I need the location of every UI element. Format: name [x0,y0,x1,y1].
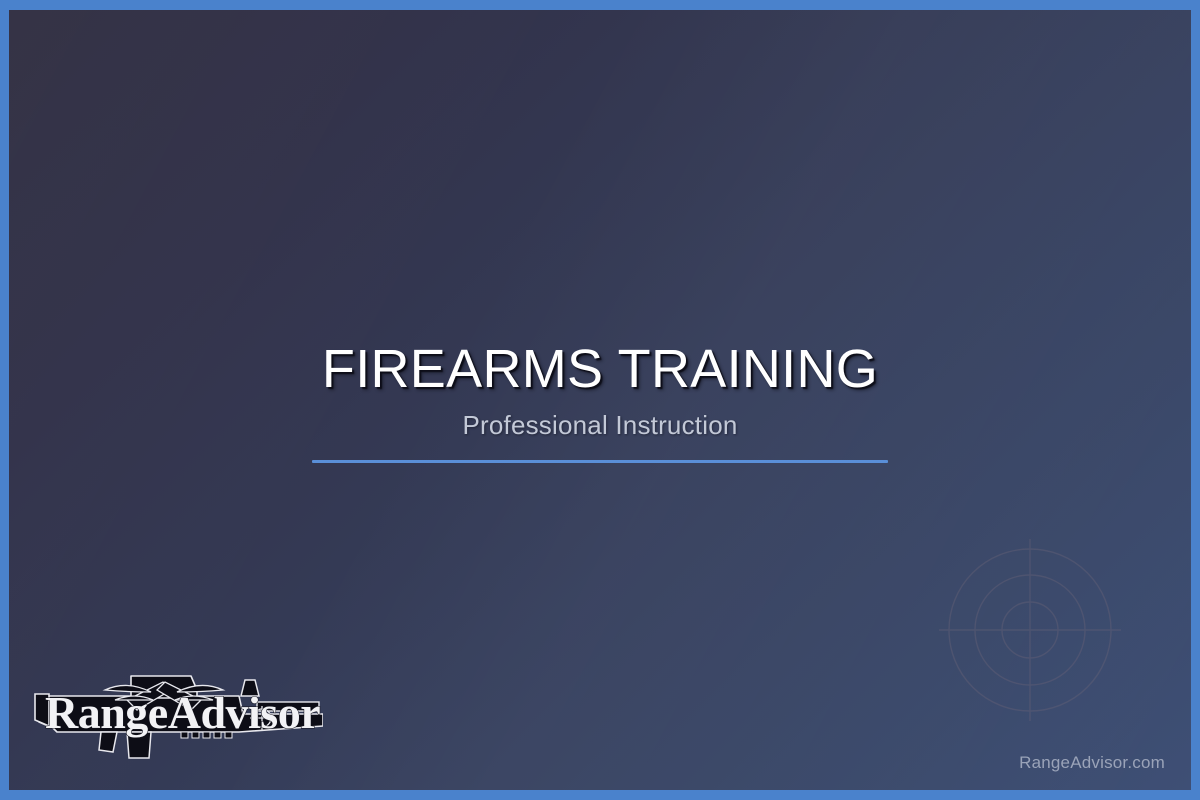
title-block: FIREARMS TRAINING Professional Instructi… [9,341,1191,463]
page-title: FIREARMS TRAINING [9,341,1191,397]
title-accent-divider [312,460,888,463]
title-slide: FIREARMS TRAINING Professional Instructi… [0,0,1200,800]
footer-url: RangeAdvisor.com [1019,753,1165,773]
rifle-silhouette-logo: RangeAdvisor [31,666,323,762]
logo-wordmark: RangeAdvisor [45,687,320,738]
page-subtitle: Professional Instruction [9,410,1191,441]
